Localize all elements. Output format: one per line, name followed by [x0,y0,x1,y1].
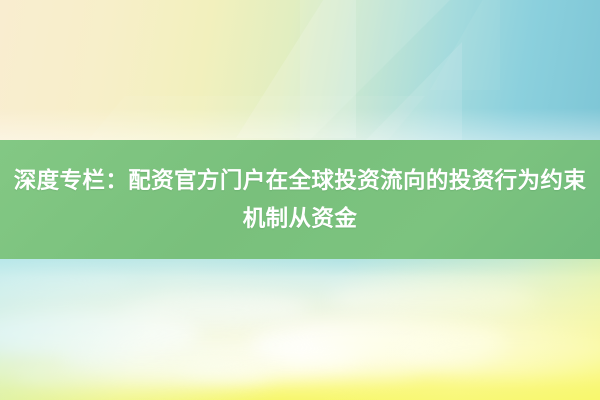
bottom-sky-area [0,259,600,400]
cloud-shape-icon [180,355,420,385]
banner-title: 深度专栏：配资官方门户在全球投资流向的投资行为约束机制从资金 [12,162,588,238]
top-area-fade [0,108,600,142]
sky-haze [0,259,600,277]
cloud-shape-icon [250,319,510,369]
cloud-shape-icon [0,273,130,301]
cloud-shape-icon [120,293,310,327]
title-band: 深度专栏：配资官方门户在全球投资流向的投资行为约束机制从资金 [0,140,600,260]
cloud-shape-icon [0,311,200,357]
cloud-shape-icon [60,337,360,379]
diagonal-shape-icon [430,0,500,90]
cloud-shape-icon [330,281,540,317]
top-decorative-area [0,0,600,142]
cloud-shape-icon [10,359,270,393]
promo-banner: 深度专栏：配资官方门户在全球投资流向的投资行为约束机制从资金 [0,0,600,400]
cloud-shape-icon [400,329,600,373]
